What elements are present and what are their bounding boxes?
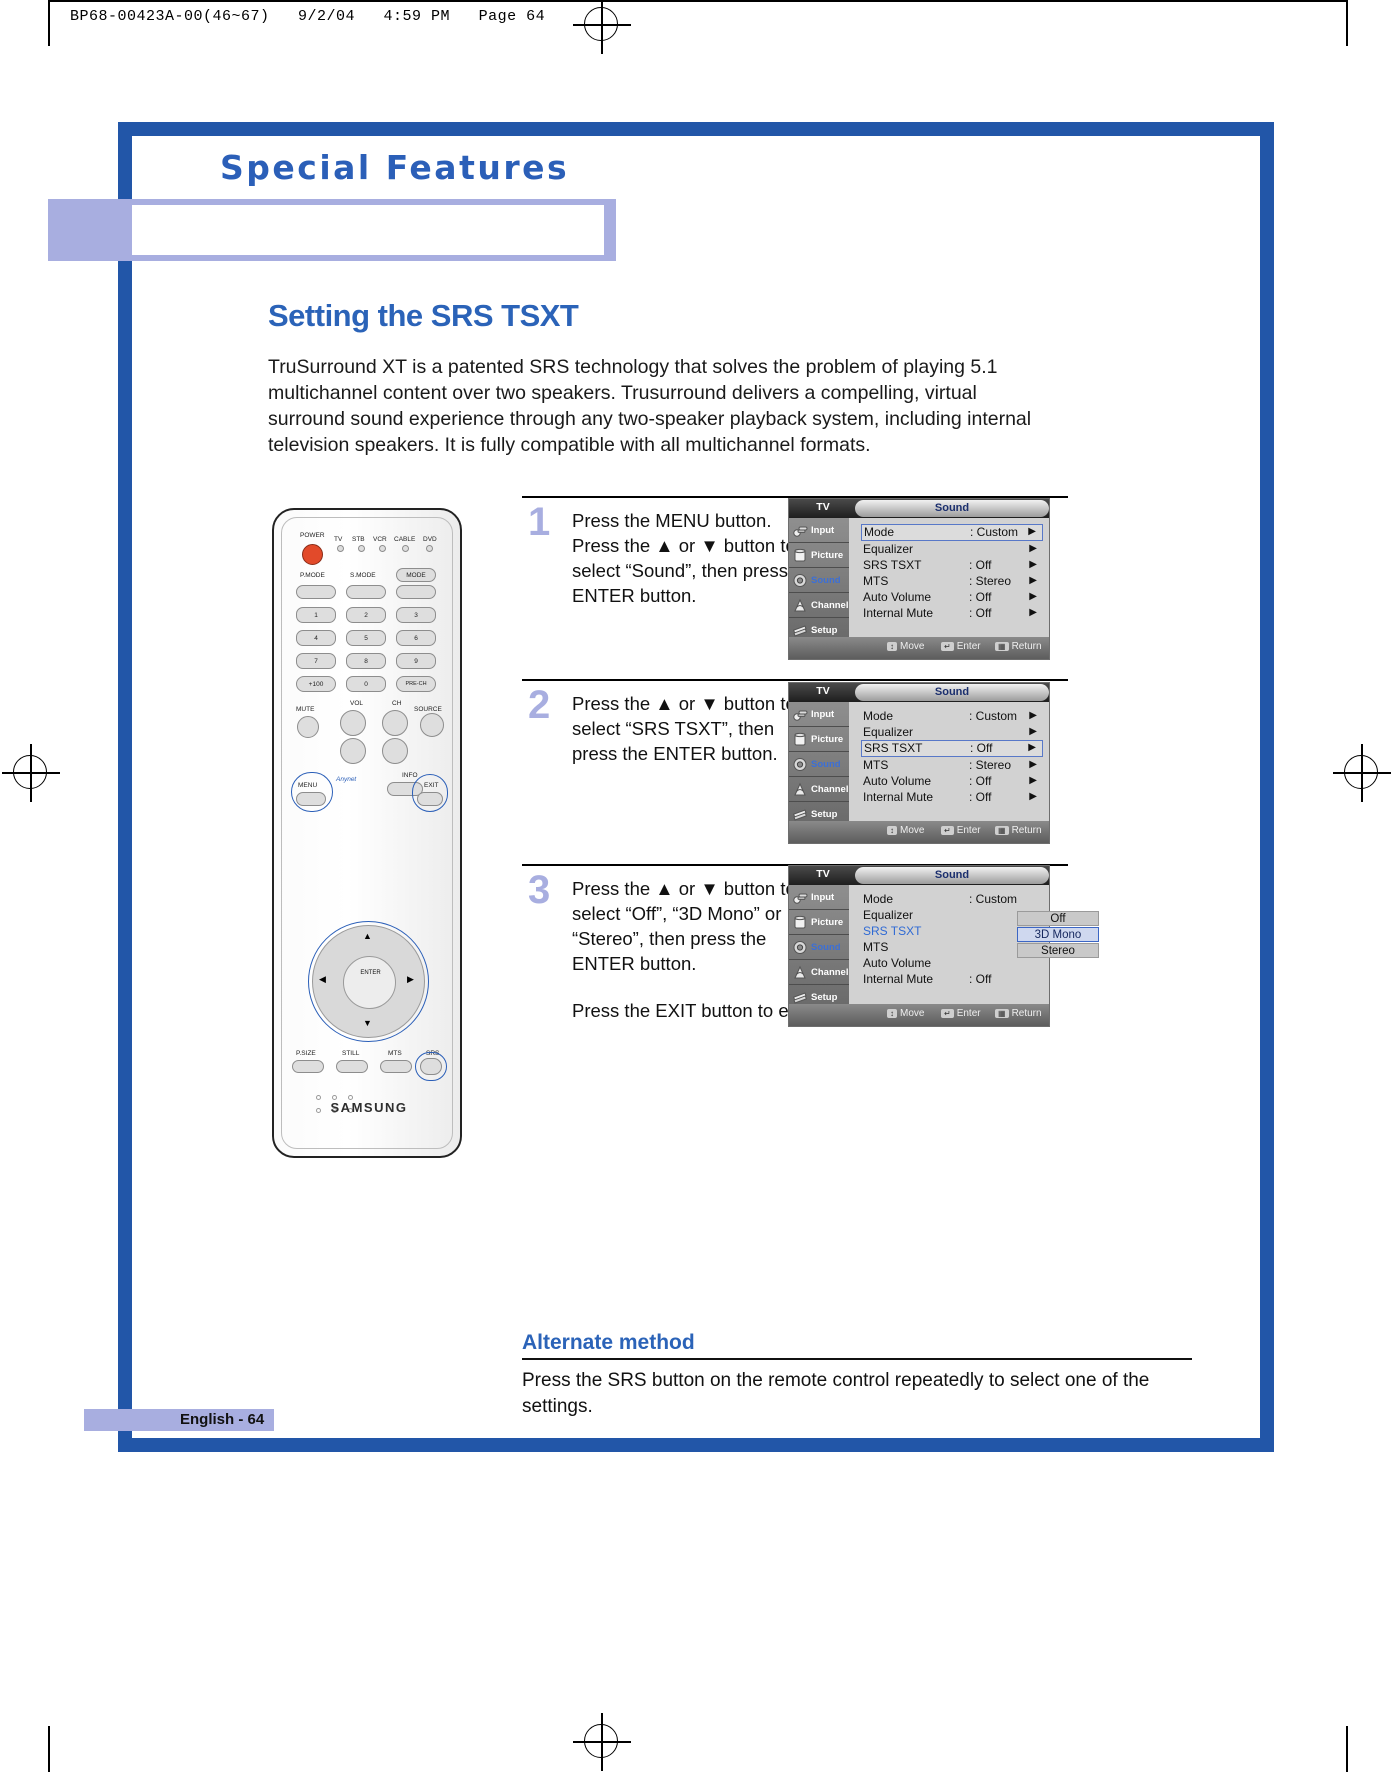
osd-3-footer-move-label: Move [900,1008,924,1019]
picture-tube-icon [792,731,809,748]
osd-1-sidebar-item-channel[interactable]: Channel [789,593,849,618]
chevron-right-icon: ▶ [1029,541,1037,557]
key-prech[interactable]: PRE-CH [396,676,436,692]
key-0[interactable]: 0 [346,676,386,692]
osd-1-tv-label: TV [797,501,849,513]
device-label-stb: STB [352,536,365,543]
osd-2-row-mts[interactable]: MTS : Stereo ▶ [861,757,1043,773]
osd-1-row-mts[interactable]: MTS : Stereo ▶ [861,573,1043,589]
footer-page-label: English - 64 [180,1409,264,1431]
osd-2-sidebar-item-input[interactable]: Input [789,702,849,727]
registration-mark-left [13,755,47,789]
osd-3-tab[interactable]: Sound [855,867,1049,884]
osd-3-sidebar-label-sound: Sound [811,935,841,960]
chevron-right-icon: ▶ [1029,605,1037,621]
osd-3-footer-enter-label: Enter [957,1008,981,1019]
osd-3-menu-list: Mode : Custom Equalizer SRS TSXT MTS Aut… [861,891,1043,987]
section-banner-inner [132,205,604,255]
channel-up-button[interactable] [382,710,408,736]
osd-2-row-equalizer-name: Equalizer [863,724,913,740]
osd-1-row-srstsxt-name: SRS TSXT [863,557,921,573]
osd-3-row-srstsxt-name: SRS TSXT [863,923,921,939]
power-button[interactable] [302,544,323,565]
osd-1-tab-label: Sound [855,502,1049,514]
osd-3-sidebar-label-channel: Channel [811,960,848,985]
antenna-icon [792,781,809,798]
remote-power-label: POWER [300,532,325,539]
device-led-vcr [379,545,386,552]
osd-3-sidebar: Input Picture Sound Channel [789,885,849,1004]
osd-3-row-mode[interactable]: Mode : Custom [861,891,1043,907]
vol-up-button[interactable] [340,710,366,736]
osd-1-sidebar-label-sound: Sound [811,568,841,593]
osd-3-footer: ↕Move ↵Enter ▦Return [789,1004,1049,1026]
osd-2-footer-enter-label: Enter [957,825,981,836]
device-label-tv: TV [334,536,342,543]
vol-down-button[interactable] [340,738,366,764]
enter-key-icon: ↵ [941,1009,954,1018]
osd-2-row-srstsxt-name: SRS TSXT [864,741,922,755]
osd-2-row-equalizer[interactable]: Equalizer ▶ [861,724,1043,740]
osd-3-sidebar-label-picture: Picture [811,910,843,935]
mts-button[interactable] [380,1060,412,1073]
osd-2-footer-return: ▦Return [995,825,1042,836]
menu-key-icon: ▦ [995,826,1009,835]
srs-tsxt-option-dropdown[interactable]: Off 3D Mono Stereo [1017,911,1099,959]
osd-2-tv-label: TV [797,685,849,697]
key-8[interactable]: 8 [346,653,386,669]
mute-label: MUTE [296,706,314,713]
osd-1-row-mode-name: Mode [864,525,894,539]
osd-2-row-internalmute[interactable]: Internal Mute : Off ▶ [861,789,1043,805]
osd-2-sidebar: Input Picture Sound Channel [789,702,849,821]
step-2-rule [522,679,1068,681]
smode-label: S.MODE [350,572,376,579]
osd-3-sidebar-item-sound[interactable]: Sound [789,935,849,960]
osd-1-sidebar-label-picture: Picture [811,543,843,568]
psize-label: P.SIZE [296,1050,316,1057]
header-rule-right [1346,0,1348,46]
srs-option-off[interactable]: Off [1017,911,1099,926]
osd-1-row-autovolume-name: Auto Volume [863,589,931,605]
osd-3-footer-move: ↕Move [887,1008,924,1019]
ch-label: CH [392,700,401,707]
osd-2-row-srstsxt-value: : Off [970,741,992,755]
osd-3-sidebar-item-input[interactable]: Input [789,885,849,910]
chevron-right-icon: ▶ [1029,557,1037,573]
chevron-right-icon: ▶ [1029,724,1037,740]
device-label-dvd: DVD [423,536,437,543]
osd-3-tv-label: TV [797,868,849,880]
osd-1-footer-move-label: Move [900,641,924,652]
key-plus100[interactable]: +100 [296,676,336,692]
osd-1-row-autovolume-value: : Off [969,589,991,605]
print-header-text: BP68-00423A-00(46~67) 9/2/04 4:59 PM Pag… [70,8,545,25]
crop-tick-bottom-left [48,1726,50,1772]
alternate-method-title: Alternate method [522,1331,695,1355]
navigation-ring-highlight [308,921,429,1042]
srs-option-3d-mono[interactable]: 3D Mono [1017,927,1099,942]
still-button[interactable] [336,1060,368,1073]
registration-mark-bottom [584,1724,618,1758]
mode-button[interactable]: MODE [396,568,436,582]
registration-mark-top [584,7,618,41]
header-rule-left [48,0,50,46]
chevron-right-icon: ▶ [1029,757,1037,773]
osd-2-menu-list: Mode : Custom ▶ Equalizer ▶ SRS TSXT : O… [861,708,1043,805]
osd-2-row-internalmute-name: Internal Mute [863,789,933,805]
osd-1-footer-return: ▦Return [995,641,1042,652]
device-led-dvd [426,545,433,552]
chevron-right-icon: ▶ [1028,741,1036,755]
menu-button-highlight [291,772,333,812]
menu-key-icon: ▦ [995,642,1009,651]
section-banner [48,199,616,261]
osd-1-row-internalmute-value: : Off [969,605,991,621]
chevron-right-icon: ▶ [1029,789,1037,805]
osd-panel-1: TV Sound Input Picture Sound [788,498,1050,660]
key-2[interactable]: 2 [346,607,386,623]
osd-3-sidebar-item-picture[interactable]: Picture [789,910,849,935]
osd-2-sidebar-label-input: Input [811,702,834,727]
osd-1-sidebar-item-sound[interactable]: Sound [789,568,849,593]
osd-2-tab[interactable]: Sound [855,684,1049,701]
header-rule-top [48,0,1348,2]
osd-3-footer-enter: ↵Enter [941,1008,981,1019]
key-4[interactable]: 4 [296,630,336,646]
osd-3-sidebar-item-channel[interactable]: Channel [789,960,849,985]
osd-3-row-internalmute-value: : Off [969,971,991,987]
psize-button[interactable] [292,1060,324,1073]
osd-1-row-mode-value: : Custom [970,525,1018,539]
crop-tick-bottom-right [1346,1726,1348,1772]
updown-arrows-icon: ↕ [887,642,897,651]
osd-1-body: Mode : Custom ▶ Equalizer ▶ SRS TSXT : O… [849,518,1049,637]
picture-tube-icon [792,547,809,564]
osd-2-row-autovolume[interactable]: Auto Volume : Off ▶ [861,773,1043,789]
mode-select-button[interactable] [396,585,436,599]
menu-key-icon: ▦ [995,1009,1009,1018]
osd-2-row-mts-name: MTS [863,757,888,773]
picture-tube-icon [792,914,809,931]
registration-mark-right [1344,755,1378,789]
osd-1-sidebar: Input Picture Sound Channel [789,518,849,637]
osd-1-row-mts-value: : Stereo [969,573,1011,589]
smode-button[interactable] [346,585,386,599]
info-label: INFO [402,772,418,779]
osd-1-sidebar-item-picture[interactable]: Picture [789,543,849,568]
osd-3-row-mode-value: : Custom [969,891,1017,907]
alternate-method-rule [522,1358,1192,1360]
speaker-icon [792,756,809,773]
key-9[interactable]: 9 [396,653,436,669]
osd-3-row-mode-name: Mode [863,891,893,907]
remote-control-illustration: POWER TV STB VCR CABLE DVD P.MODE S.MODE… [272,508,462,1158]
channel-down-button[interactable] [382,738,408,764]
osd-2-row-mode-name: Mode [863,708,893,724]
osd-1-footer-enter: ↵Enter [941,641,981,652]
osd-3-row-equalizer[interactable]: Equalizer [861,907,1043,923]
anynet-label: Anynet [336,776,356,783]
osd-2-sidebar-label-channel: Channel [811,777,848,802]
chevron-right-icon: ▶ [1028,525,1036,539]
osd-1-row-autovolume[interactable]: Auto Volume : Off ▶ [861,589,1043,605]
osd-2-sidebar-label-sound: Sound [811,752,841,777]
osd-3-footer-return-label: Return [1012,1008,1042,1019]
speaker-icon [792,572,809,589]
osd-2-footer-return-label: Return [1012,825,1042,836]
still-label: STILL [342,1050,359,1057]
key-1[interactable]: 1 [296,607,336,623]
device-led-tv [337,545,344,552]
section-title: Setting the SRS TSXT [268,298,578,334]
osd-1-footer: ↕Move ↵Enter ▦Return [789,637,1049,659]
mts-label: MTS [388,1050,402,1057]
input-jack-icon [792,889,809,906]
step-1-text: Press the MENU button. Press the ▲ or ▼ … [572,508,822,608]
osd-1-tab[interactable]: Sound [855,500,1049,517]
antenna-icon [792,964,809,981]
exit-button-highlight [412,774,448,812]
key-5[interactable]: 5 [346,630,386,646]
updown-arrows-icon: ↕ [887,1009,897,1018]
osd-2-row-internalmute-value: : Off [969,789,991,805]
source-label: SOURCE [414,706,442,713]
osd-1-row-internalmute[interactable]: Internal Mute : Off ▶ [861,605,1043,621]
source-button[interactable] [420,713,444,737]
print-registration-header: BP68-00423A-00(46~67) 9/2/04 4:59 PM Pag… [0,0,1392,46]
step-3-number: 3 [528,872,550,908]
osd-2-tab-label: Sound [855,686,1049,698]
step-3-text: Press the ▲ or ▼ button to select “Off”,… [572,876,822,1023]
osd-3-sidebar-label-input: Input [811,885,834,910]
osd-2-footer: ↕Move ↵Enter ▦Return [789,821,1049,843]
osd-3-row-srstsxt[interactable]: SRS TSXT [861,923,1043,939]
srs-button-highlight [415,1052,447,1081]
chevron-right-icon: ▶ [1029,773,1037,789]
osd-2-sidebar-item-sound[interactable]: Sound [789,752,849,777]
osd-2-footer-move-label: Move [900,825,924,836]
osd-2-sidebar-item-picture[interactable]: Picture [789,727,849,752]
chevron-right-icon: ▶ [1029,708,1037,724]
osd-1-sidebar-item-input[interactable]: Input [789,518,849,543]
osd-panel-3: TV Sound Input Picture Sound [788,865,1050,1027]
osd-3-row-mts-name: MTS [863,939,888,955]
osd-3-body: Mode : Custom Equalizer SRS TSXT MTS Aut… [849,885,1049,1004]
osd-1-row-internalmute-name: Internal Mute [863,605,933,621]
device-led-stb [358,545,365,552]
osd-1-footer-move: ↕Move [887,641,924,652]
page-frame: Special Features Setting the SRS TSXT Tr… [118,122,1274,1452]
speaker-icon [792,939,809,956]
pmode-label: P.MODE [300,572,325,579]
osd-2-sidebar-item-channel[interactable]: Channel [789,777,849,802]
osd-1-row-equalizer-name: Equalizer [863,541,913,557]
key-7[interactable]: 7 [296,653,336,669]
device-label-cable: CABLE [394,536,415,543]
antenna-icon [792,597,809,614]
chevron-right-icon: ▶ [1029,589,1037,605]
chevron-right-icon: ▶ [1029,573,1037,589]
osd-3-footer-return: ▦Return [995,1008,1042,1019]
osd-2-footer-enter: ↵Enter [941,825,981,836]
step-3-exit-note: Press the EXIT button to exit. [572,998,822,1023]
osd-1-footer-enter-label: Enter [957,641,981,652]
alternate-method-text: Press the SRS button on the remote contr… [522,1368,1202,1420]
osd-1-row-equalizer[interactable]: Equalizer ▶ [861,541,1043,557]
enter-key-icon: ↵ [941,642,954,651]
osd-2-row-autovolume-value: : Off [969,773,991,789]
updown-arrows-icon: ↕ [887,826,897,835]
enter-key-icon: ↵ [941,826,954,835]
osd-3-row-autovolume[interactable]: Auto Volume [861,955,1043,971]
osd-2-row-mode-value: : Custom [969,708,1017,724]
vol-label: VOL [350,700,363,707]
osd-1-row-srstsxt-value: : Off [969,557,991,573]
input-jack-icon [792,706,809,723]
osd-1-row-mts-name: MTS [863,573,888,589]
osd-3-row-internalmute[interactable]: Internal Mute : Off [861,971,1043,987]
osd-1-sidebar-label-channel: Channel [811,593,848,618]
osd-3-row-internalmute-name: Internal Mute [863,971,933,987]
key-6[interactable]: 6 [396,630,436,646]
osd-1-sidebar-label-input: Input [811,518,834,543]
osd-3-row-equalizer-name: Equalizer [863,907,913,923]
step-2-text: Press the ▲ or ▼ button to select “SRS T… [572,691,822,766]
osd-3-row-autovolume-name: Auto Volume [863,955,931,971]
osd-1-row-mode[interactable]: Mode : Custom ▶ [861,524,1043,541]
section-intro-paragraph: TruSurround XT is a patented SRS technol… [268,354,1058,458]
step-3-main-text: Press the ▲ or ▼ button to select “Off”,… [572,878,796,974]
key-3[interactable]: 3 [396,607,436,623]
osd-3-tab-label: Sound [855,869,1049,881]
osd-panel-2: TV Sound Input Picture Sound [788,682,1050,844]
page-title: Special Features [220,148,569,187]
osd-1-menu-list: Mode : Custom ▶ Equalizer ▶ SRS TSXT : O… [861,524,1043,621]
osd-2-sidebar-label-picture: Picture [811,727,843,752]
osd-1-footer-return-label: Return [1012,641,1042,652]
osd-1-row-srstsxt[interactable]: SRS TSXT : Off ▶ [861,557,1043,573]
osd-3-row-mts[interactable]: MTS [861,939,1043,955]
step-1-number: 1 [528,504,550,540]
osd-2-row-mode[interactable]: Mode : Custom ▶ [861,708,1043,724]
pmode-button[interactable] [296,585,336,599]
step-2-number: 2 [528,687,550,723]
srs-option-stereo[interactable]: Stereo [1017,943,1099,958]
osd-2-footer-move: ↕Move [887,825,924,836]
osd-2-body: Mode : Custom ▶ Equalizer ▶ SRS TSXT : O… [849,702,1049,821]
osd-2-row-mts-value: : Stereo [969,757,1011,773]
device-led-cable [402,545,409,552]
samsung-brand-logo: SAMSUNG [320,1100,418,1115]
osd-2-row-srstsxt[interactable]: SRS TSXT : Off ▶ [861,740,1043,757]
input-jack-icon [792,522,809,539]
device-label-vcr: VCR [373,536,387,543]
mute-button[interactable] [297,716,319,738]
osd-2-row-autovolume-name: Auto Volume [863,773,931,789]
